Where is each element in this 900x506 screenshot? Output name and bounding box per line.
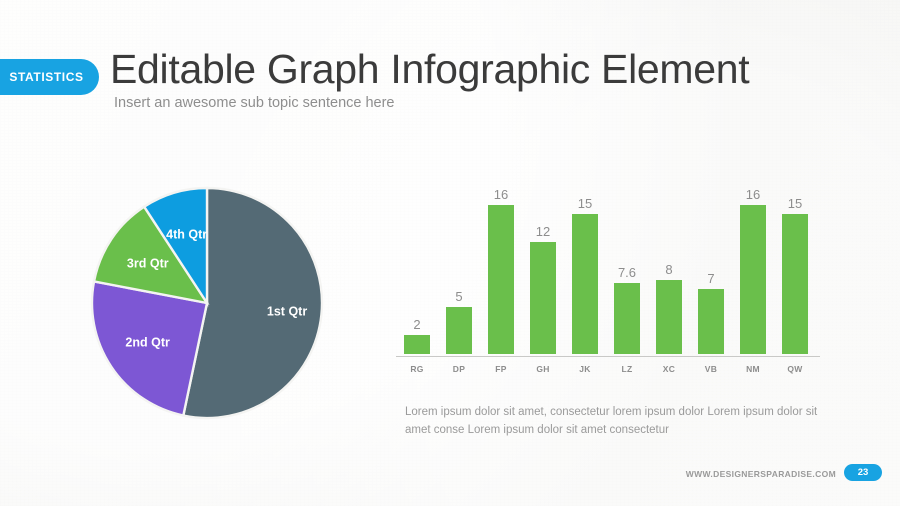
bar-column-xc[interactable]: 8XC [648, 176, 690, 376]
bar-column-fp[interactable]: 16FP [480, 176, 522, 376]
bar-dp[interactable] [446, 307, 472, 354]
bar-category-vb: VB [690, 364, 732, 374]
bar-column-qw[interactable]: 15QW [774, 176, 816, 376]
page-subtitle: Insert an awesome sub topic sentence her… [114, 95, 395, 111]
bar-value-vb: 7 [690, 271, 732, 286]
bar-value-nm: 16 [732, 187, 774, 202]
pie-chart: 1st Qtr2nd Qtr3rd Qtr4th Qtr [80, 178, 336, 434]
pie-chart-svg: 1st Qtr2nd Qtr3rd Qtr4th Qtr [80, 178, 336, 434]
bar-category-jk: JK [564, 364, 606, 374]
bar-column-rg[interactable]: 2RG [396, 176, 438, 376]
bar-column-lz[interactable]: 7.6LZ [606, 176, 648, 376]
bar-column-gh[interactable]: 12GH [522, 176, 564, 376]
bar-value-lz: 7.6 [606, 265, 648, 280]
bar-qw[interactable] [782, 214, 808, 354]
bar-value-gh: 12 [522, 224, 564, 239]
bar-category-xc: XC [648, 364, 690, 374]
pie-label-4th-qtr: 4th Qtr [166, 228, 207, 242]
bar-value-jk: 15 [564, 196, 606, 211]
bar-value-rg: 2 [396, 317, 438, 332]
bar-lz[interactable] [614, 283, 640, 354]
bar-column-dp[interactable]: 5DP [438, 176, 480, 376]
bar-value-dp: 5 [438, 289, 480, 304]
statistics-badge: STATISTICS [0, 59, 99, 95]
bar-column-vb[interactable]: 7VB [690, 176, 732, 376]
bar-value-fp: 16 [480, 187, 522, 202]
bar-column-nm[interactable]: 16NM [732, 176, 774, 376]
page-number-label: 23 [858, 467, 869, 478]
pie-label-3rd-qtr: 3rd Qtr [127, 256, 169, 270]
pie-slice-group [92, 188, 322, 418]
bar-vb[interactable] [698, 289, 724, 354]
bar-chart-axis-line [396, 356, 820, 357]
bar-xc[interactable] [656, 280, 682, 355]
bar-gh[interactable] [530, 242, 556, 354]
bar-category-gh: GH [522, 364, 564, 374]
page-number-badge: 23 [844, 464, 882, 481]
page-title: Editable Graph Infographic Element [110, 46, 749, 93]
bar-column-jk[interactable]: 15JK [564, 176, 606, 376]
bar-category-rg: RG [396, 364, 438, 374]
pie-label-2nd-qtr: 2nd Qtr [125, 336, 170, 350]
body-paragraph: Lorem ipsum dolor sit amet, consectetur … [405, 404, 830, 440]
bar-category-fp: FP [480, 364, 522, 374]
pie-label-1st-qtr: 1st Qtr [267, 304, 307, 318]
bar-fp[interactable] [488, 205, 514, 354]
statistics-badge-label: STATISTICS [0, 70, 84, 84]
bar-nm[interactable] [740, 205, 766, 354]
bar-value-xc: 8 [648, 262, 690, 277]
bar-jk[interactable] [572, 214, 598, 354]
bar-rg[interactable] [404, 335, 430, 354]
bar-value-qw: 15 [774, 196, 816, 211]
bar-chart: 2RG5DP16FP12GH15JK7.6LZ8XC7VB16NM15QW [396, 176, 816, 376]
bar-category-qw: QW [774, 364, 816, 374]
bar-category-lz: LZ [606, 364, 648, 374]
bar-category-nm: NM [732, 364, 774, 374]
bar-category-dp: DP [438, 364, 480, 374]
footer-url: WWW.DESIGNERSPARADISE.COM [686, 469, 836, 479]
